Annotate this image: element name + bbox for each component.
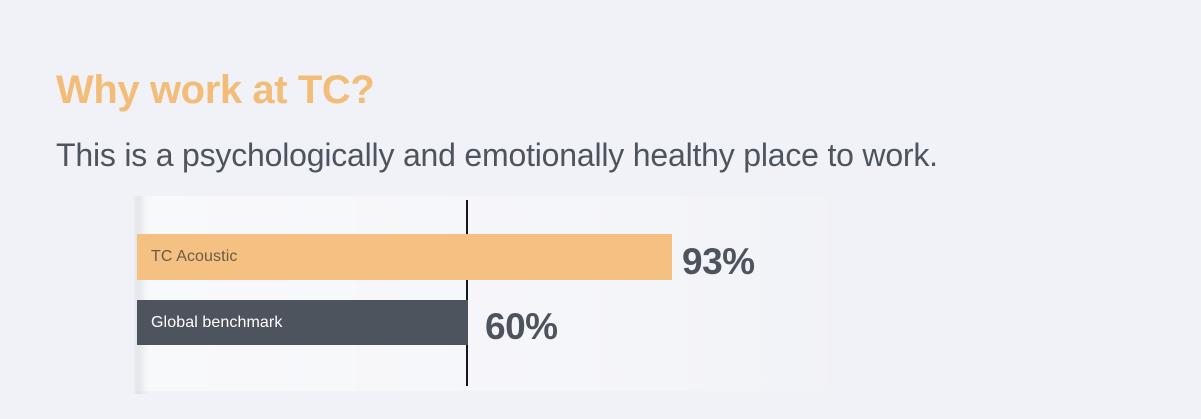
benchmark-reference-line [466, 200, 468, 386]
chart-left-edge-shadow [133, 196, 149, 394]
bar-chart: TC Acoustic Global benchmark 93% 60% [133, 196, 1201, 396]
value-label-tc-acoustic: 93% [682, 243, 755, 280]
page-subtitle: This is a psychologically and emotionall… [56, 136, 938, 174]
chart-plot-area [137, 196, 1201, 391]
bar-global-benchmark: Global benchmark [137, 300, 468, 345]
page-title: Why work at TC? [56, 68, 374, 112]
value-label-global-benchmark: 60% [485, 308, 558, 345]
bar-label-tc-acoustic: TC Acoustic [137, 248, 237, 266]
slide-root: Why work at TC? This is a psychologicall… [0, 0, 1201, 419]
bar-label-global-benchmark: Global benchmark [137, 314, 282, 332]
bar-tc-acoustic: TC Acoustic [137, 234, 672, 280]
